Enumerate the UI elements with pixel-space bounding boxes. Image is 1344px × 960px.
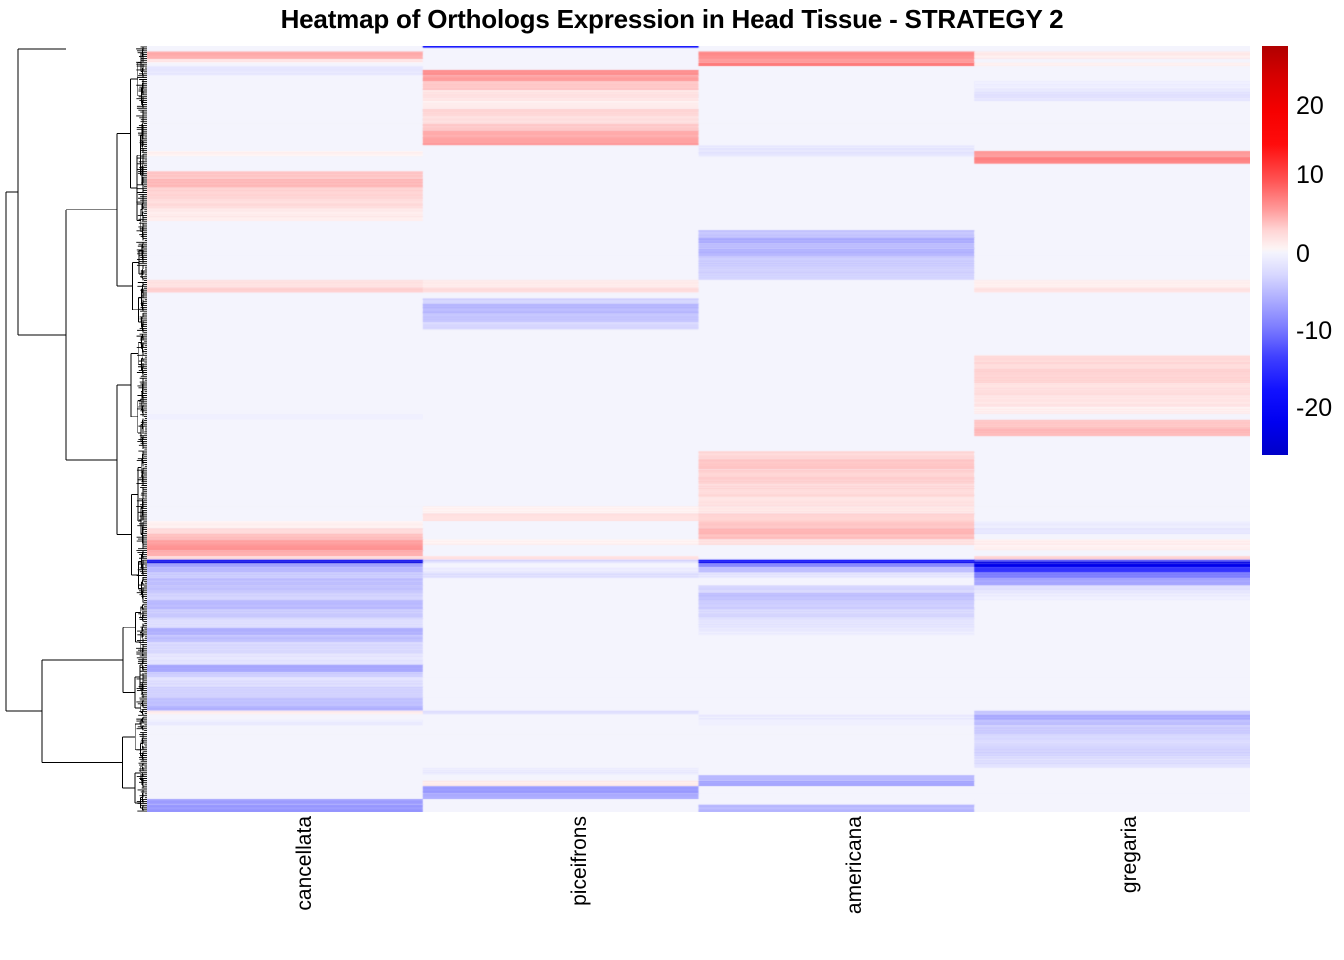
- page-title: Heatmap of Orthologs Expression in Head …: [0, 4, 1344, 35]
- colorbar-legend: 20 10 0 -10 -20: [1262, 46, 1344, 458]
- row-dendrogram: [0, 46, 147, 812]
- col-label-piceifrons: piceifrons: [568, 816, 592, 906]
- colorbar-tick--20: -20: [1296, 396, 1332, 421]
- colorbar-gradient: [1262, 46, 1288, 455]
- col-label-americana: americana: [843, 816, 867, 914]
- dendrogram-links: [6, 47, 143, 811]
- heatmap-canvas[interactable]: [147, 46, 1250, 812]
- column-axis-labels: cancellata piceifrons americana gregaria: [147, 812, 1250, 960]
- colorbar-tick-0: 0: [1296, 242, 1310, 267]
- col-label-gregaria: gregaria: [1118, 816, 1142, 893]
- heatmap-plot[interactable]: [147, 46, 1250, 812]
- col-label-cancellata: cancellata: [293, 816, 317, 911]
- colorbar-tick-20: 20: [1296, 94, 1324, 119]
- colorbar-tick-10: 10: [1296, 163, 1324, 188]
- colorbar-tick--10: -10: [1296, 319, 1332, 344]
- dendrogram-svg: [0, 46, 147, 812]
